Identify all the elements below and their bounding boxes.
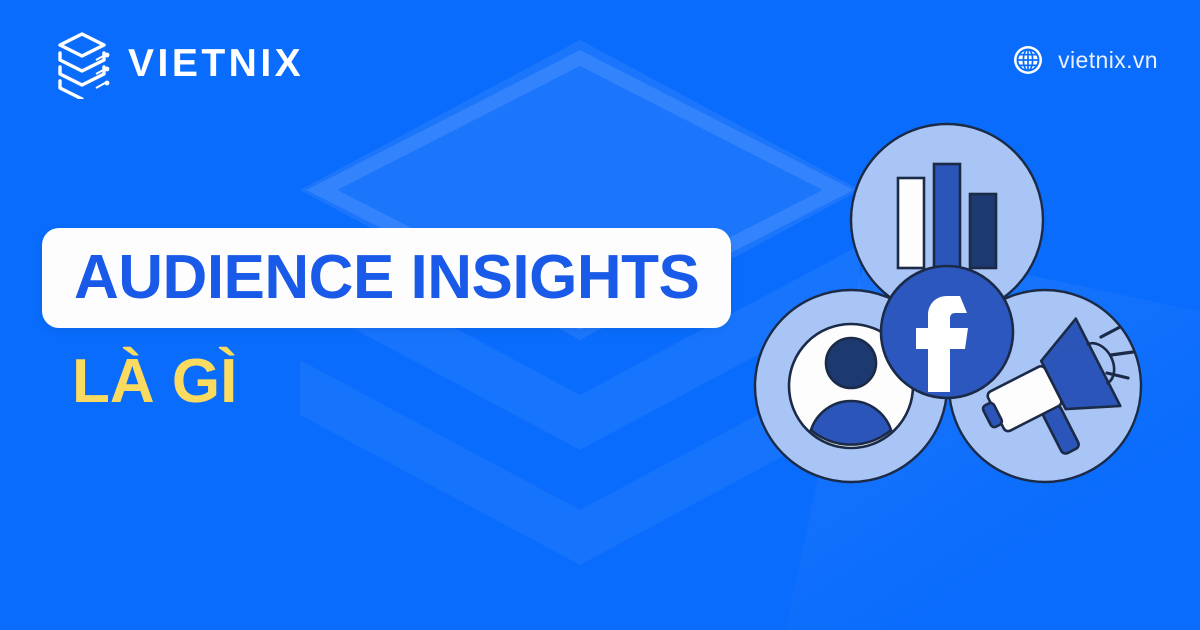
vietnix-logo[interactable]: VIETNIX — [52, 27, 304, 99]
audience-insights-illustration — [735, 120, 1175, 510]
page-title-pill: AUDIENCE INSIGHTS — [42, 228, 731, 328]
site-url-text: vietnix.vn — [1058, 47, 1158, 74]
stacked-layers-icon — [52, 27, 114, 99]
vietnix-wordmark: VIETNIX — [128, 44, 304, 83]
facebook-badge — [881, 266, 1013, 398]
site-url-block[interactable]: vietnix.vn — [1013, 45, 1158, 75]
banner-canvas: VIETNIX vietnix.vn AUDIENCE INSIGHTS LÀ … — [0, 0, 1200, 630]
globe-icon — [1013, 45, 1043, 75]
page-title: AUDIENCE INSIGHTS — [74, 247, 699, 309]
page-subtitle: LÀ GÌ — [72, 348, 237, 416]
